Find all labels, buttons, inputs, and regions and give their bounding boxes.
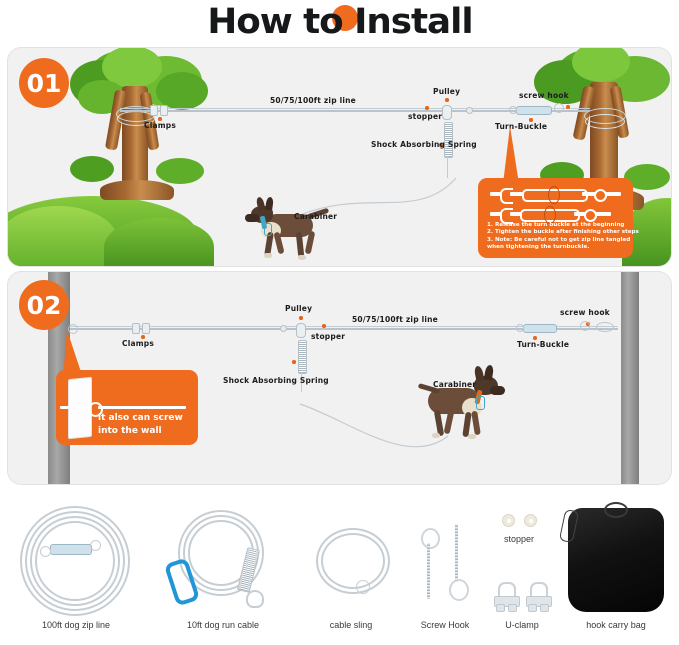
label-stopper: stopper: [311, 332, 345, 341]
label-turn-buckle: Turn-Buckle: [517, 340, 569, 349]
carry-bag-body: [568, 508, 664, 612]
product-screw-hook: Screw Hook: [400, 500, 490, 645]
stopper-hardware: [280, 325, 287, 332]
wall-post-right: [621, 272, 639, 484]
product-caption: Screw Hook: [400, 620, 490, 630]
eye-bolt-thread: [60, 406, 90, 409]
turn-buckle-eye: [516, 324, 524, 332]
label-shock-spring: Shock Absorbing Spring: [371, 140, 477, 149]
screw-hook-hardware: [580, 321, 590, 331]
label-shock-spring-text: Shock Absorbing Spring: [223, 376, 329, 385]
clamp-hardware: [142, 323, 150, 334]
u-clamp-item: [494, 582, 520, 612]
u-clamp-nut: [528, 604, 537, 612]
stopper-item: [524, 514, 537, 527]
step-badge-02-text: 02: [27, 291, 62, 320]
install-step-panel-02: Clamps Pulley stopper Shock Absorbing Sp…: [8, 272, 671, 484]
label-carabiner: Carabiner: [433, 380, 476, 389]
stopper-item: [502, 514, 515, 527]
callout-line: when tightening the turnbuckle.: [487, 244, 639, 252]
dog-paw: [264, 253, 272, 258]
screw-hook-item: [444, 524, 470, 602]
product-10ft-run-cable: 10ft dog run cable: [158, 500, 288, 645]
callout-pointer: [503, 126, 519, 184]
wall-callout-line1: it also can screw: [98, 412, 183, 425]
u-clamp-nut: [496, 604, 505, 612]
screw-hook-ring: [421, 528, 440, 549]
product-caption: hook carry bag: [556, 620, 676, 630]
install-step-panel-01: Clamps 50/75/100ft zip line Pulley stopp…: [8, 48, 671, 266]
product-cable-sling: cable sling: [296, 500, 406, 645]
step-badge-02: 02: [19, 280, 69, 330]
product-caption: stopper: [484, 534, 554, 544]
u-clamp-nut: [540, 604, 549, 612]
tree-cable-wrap: [585, 114, 625, 129]
label-shock-spring: Shock Absorbing Spring: [223, 376, 329, 385]
pulley-hardware: [442, 105, 452, 120]
dog-illustration: [245, 198, 331, 264]
turn-buckle-hardware: [50, 544, 92, 555]
label-anchor-dot: [299, 316, 303, 320]
label-anchor-dot: [292, 360, 296, 364]
screw-hook-shaft: [427, 543, 430, 599]
label-screw-hook: screw hook: [560, 308, 610, 317]
product-carry-bag: hook carry bag: [556, 500, 676, 645]
dog-snout: [245, 214, 259, 222]
callout-line: 1. Release the turn buckle at the beginn…: [487, 222, 639, 230]
screw-hook-ring: [449, 579, 469, 601]
label-anchor-dot: [566, 105, 570, 109]
shock-absorbing-spring: [298, 340, 307, 374]
carabiner-hardware: [264, 223, 272, 236]
label-anchor-dot: [533, 336, 537, 340]
cable-coil: [321, 533, 385, 589]
turnbuckle-diagram-open: [490, 187, 622, 201]
label-pulley: Pulley: [433, 87, 460, 96]
label-clamps: Clamps: [144, 121, 176, 130]
tree-root: [100, 180, 174, 200]
product-u-clamp: U-clamp: [484, 580, 560, 645]
rotation-arrow: [548, 186, 560, 204]
clamp-hardware: [160, 105, 168, 116]
callout-instruction-list: 1. Release the turn buckle at the beginn…: [487, 222, 639, 252]
product-caption: U-clamp: [484, 620, 560, 630]
dog-leg: [471, 411, 481, 436]
cable-sling-eye: [356, 580, 370, 594]
label-stopper: stopper: [408, 112, 442, 121]
cable-loop: [596, 322, 614, 332]
product-100ft-zip-line: 100ft dog zip line: [6, 500, 146, 645]
label-carabiner: Carabiner: [294, 212, 337, 221]
dog-paw: [432, 433, 440, 438]
label-pulley: Pulley: [285, 304, 312, 313]
clamp-hardware: [150, 105, 158, 116]
label-anchor-dot: [322, 324, 326, 328]
turn-buckle-eye: [509, 106, 517, 114]
tree-base-shrub: [156, 158, 204, 184]
page-title: How to Install: [207, 2, 472, 42]
tree-base-shrub: [70, 156, 114, 182]
step-badge-01-text: 01: [27, 69, 62, 98]
callout-line: 3. Note: Be careful not to get zip line …: [487, 237, 639, 245]
dog-paw: [468, 434, 476, 439]
u-clamp-nut: [508, 604, 517, 612]
step-badge-01: 01: [19, 58, 69, 108]
dog-paw: [298, 255, 306, 260]
turnbuckle-diagram-tight: [490, 207, 622, 221]
turnbuckle-instruction-callout: 1. Release the turn buckle at the beginn…: [478, 178, 633, 258]
label-anchor-dot: [141, 335, 145, 339]
product-caption: cable sling: [296, 620, 406, 630]
turn-buckle-eye: [90, 540, 101, 551]
label-anchor-dot: [445, 98, 449, 102]
product-contents-row: 100ft dog zip line 10ft dog run cable ca…: [0, 492, 679, 645]
wall-callout-line2: into the wall: [98, 425, 183, 438]
label-zip-line: 50/75/100ft zip line: [270, 96, 356, 105]
tree-left: [64, 50, 224, 210]
label-anchor-dot: [158, 117, 162, 121]
product-caption: 10ft dog run cable: [158, 620, 288, 630]
callout-line: 2. Tighten the buckle after finishing ot…: [487, 229, 639, 237]
page-header: How to Install: [0, 0, 679, 44]
screw-hook-item: [416, 528, 442, 600]
u-clamp-item: [526, 582, 552, 612]
label-screw-hook: screw hook: [519, 91, 569, 100]
carry-bag-drawstring: [604, 502, 628, 518]
clamp-hardware: [132, 323, 140, 334]
turn-buckle-hardware: [523, 324, 557, 333]
screw-hook-hardware: [554, 103, 564, 113]
label-clamps: Clamps: [122, 339, 154, 348]
label-anchor-dot: [425, 106, 429, 110]
label-anchor-dot: [529, 118, 533, 122]
product-caption: 100ft dog zip line: [6, 620, 146, 630]
hook-shape: [500, 188, 513, 204]
dog-ear: [265, 197, 274, 211]
pulley-hardware: [296, 323, 306, 338]
cable-thimble: [246, 590, 264, 608]
carabiner-hardware: [476, 396, 485, 410]
turn-buckle-eye: [40, 546, 51, 557]
wall-callout-text: it also can screw into the wall: [98, 412, 183, 438]
turn-buckle-hardware: [516, 106, 552, 115]
screw-hook-shaft: [455, 524, 458, 582]
stopper-hardware: [466, 107, 473, 114]
label-shock-spring-text: Shock Absorbing Spring: [371, 140, 477, 149]
eye-bolt-shaft: [98, 406, 186, 409]
cable-coil: [35, 521, 115, 601]
product-stopper: stopper: [484, 512, 554, 560]
label-zip-line: 50/75/100ft zip line: [352, 315, 438, 324]
dog-snout: [490, 386, 505, 395]
wall-mount-callout: it also can screw into the wall: [56, 370, 198, 445]
